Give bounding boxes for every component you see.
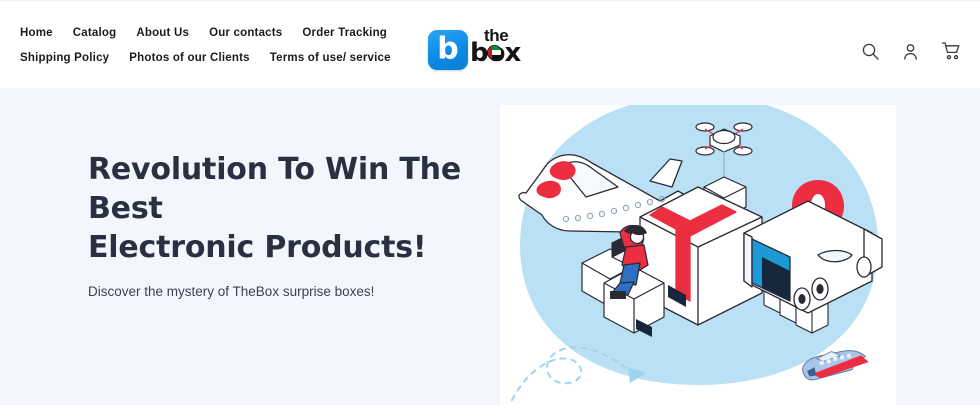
hero-subtitle: Discover the mystery of TheBox surprise … bbox=[88, 283, 488, 302]
hero-illustration bbox=[500, 105, 896, 405]
uae-flag-icon bbox=[487, 45, 502, 60]
hero-title-line2: Electronic Products! bbox=[88, 230, 426, 265]
account-icon[interactable] bbox=[901, 42, 920, 61]
search-icon[interactable] bbox=[861, 42, 880, 61]
nav-terms-of-use-service[interactable]: Terms of use/ service bbox=[270, 52, 391, 64]
logo-mark-letter: b bbox=[428, 34, 468, 64]
hero-copy: Revolution To Win The Best Electronic Pr… bbox=[88, 150, 488, 302]
cart-icon[interactable] bbox=[941, 41, 962, 61]
site-header: Home Catalog About Us Our contacts Order… bbox=[0, 0, 980, 88]
logo-mark-b: b bbox=[428, 30, 468, 70]
nav-our-contacts[interactable]: Our contacts bbox=[209, 27, 282, 39]
hero-title: Revolution To Win The Best Electronic Pr… bbox=[88, 150, 488, 267]
logo-wordmark: the box bbox=[470, 28, 546, 72]
nav-catalog[interactable]: Catalog bbox=[73, 27, 117, 39]
site-logo[interactable]: b the box bbox=[428, 28, 546, 72]
hero-section: Revolution To Win The Best Electronic Pr… bbox=[0, 88, 980, 405]
nav-row-primary: Home Catalog About Us Our contacts Order… bbox=[20, 27, 440, 39]
main-navigation: Home Catalog About Us Our contacts Order… bbox=[20, 27, 440, 64]
page-root: Home Catalog About Us Our contacts Order… bbox=[0, 0, 980, 405]
logistics-delivery-illustration bbox=[500, 105, 896, 405]
nav-home[interactable]: Home bbox=[20, 27, 53, 39]
hero-title-line1: Revolution To Win The Best bbox=[88, 152, 461, 226]
nav-order-tracking[interactable]: Order Tracking bbox=[302, 27, 387, 39]
nav-shipping-policy[interactable]: Shipping Policy bbox=[20, 52, 109, 64]
header-actions bbox=[861, 41, 962, 61]
nav-photos-of-our-clients[interactable]: Photos of our Clients bbox=[129, 52, 249, 64]
nav-about-us[interactable]: About Us bbox=[136, 27, 189, 39]
nav-row-secondary: Shipping Policy Photos of our Clients Te… bbox=[20, 52, 440, 64]
